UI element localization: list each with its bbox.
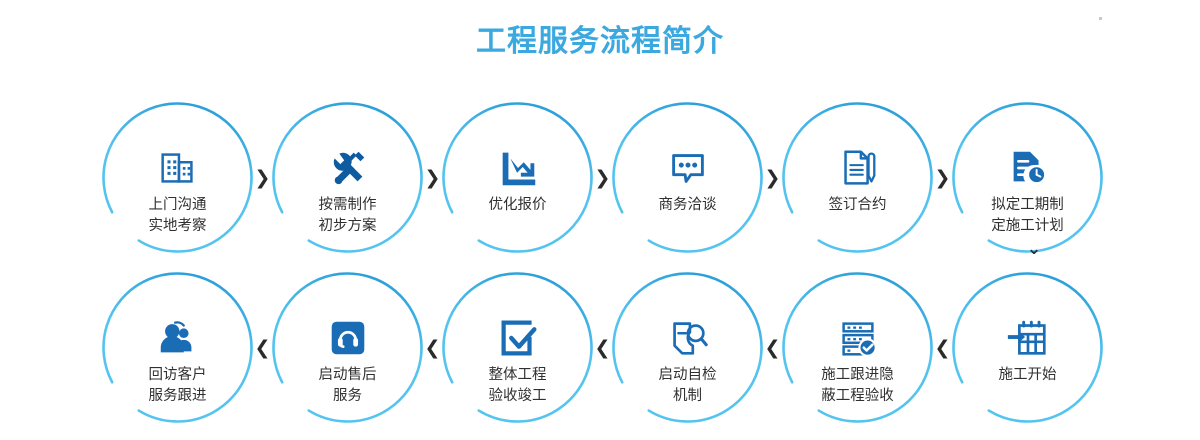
flow-step-label-line1: 拟定工期制 [991,197,1064,213]
flow-step-7[interactable]: 施工开始 [950,270,1105,425]
flow-step-content: 启动售后服务 [283,297,413,397]
flow-step-label-line2: 实地考察 [149,216,207,237]
connector-chevron-left-icon: ❮ [765,270,780,425]
document-pen-icon [835,145,881,191]
flow-step-label-line2: 蔽工程验收 [821,386,894,407]
flow-step-content: 优化报价 [453,127,583,227]
users-group-icon [155,315,201,361]
calendar-arrow-icon [1005,315,1051,361]
chevron-down-icon: ⌄ [1027,240,1041,259]
flow-step-label: 启动售后服务 [319,365,377,407]
flow-step-label: 拟定工期制定施工计划 [991,195,1064,237]
document-clock-icon [1005,145,1051,191]
flow-step-label: 上门沟通实地考察 [149,195,207,237]
flow-step-label-line2: 服务跟进 [149,386,207,407]
connector-chevron-left-icon: ❮ [595,270,610,425]
chevron-right-icon: ❯ [595,169,611,188]
flow-step-label-line1: 施工跟进隐 [821,367,894,383]
flow-step-content: 拟定工期制定施工计划 [963,127,1093,227]
flow-row-2: 回访客户服务跟进❮启动售后服务❮整体工程验收竣工❮启动自检机制❮施工跟进隐蔽工程… [0,262,1200,432]
flow-step-label-line1: 启动自检 [659,367,717,383]
flow-step-label-line2: 定施工计划 [991,216,1064,237]
flow-step-content: 回访客户服务跟进 [113,297,243,397]
connector-chevron-right-icon: ❯ [425,100,440,255]
flow-step-content: 签订合约 [793,127,923,227]
flow-step-11[interactable]: 启动售后服务 [270,270,425,425]
flow-step-label: 施工开始 [999,365,1057,386]
flow-step-2[interactable]: 按需制作初步方案 [270,100,425,255]
flow-row-1: 上门沟通实地考察❯按需制作初步方案❯优化报价❯商务洽谈❯签订合约❯拟定工期制定施… [0,92,1200,262]
flow-step-label-line1: 启动售后 [319,367,377,383]
connector-chevron-right-icon: ❯ [935,100,950,255]
headset-icon [325,315,371,361]
flow-step-label: 优化报价 [489,195,547,216]
speech-bubble-icon [665,145,711,191]
flow-step-12[interactable]: 回访客户服务跟进 [100,270,255,425]
flow-step-label-line1: 回访客户 [149,367,207,383]
flow-step-label-line1: 整体工程 [489,367,547,383]
chevron-left-icon: ❮ [935,339,951,358]
server-check-icon [835,315,881,361]
flow-step-8[interactable]: 施工跟进隐蔽工程验收 [780,270,935,425]
document-search-icon [665,315,711,361]
chevron-left-icon: ❮ [255,339,271,358]
chart-down-arrow-icon [495,145,541,191]
chevron-right-icon: ❯ [255,169,271,188]
flow-step-content: 施工跟进隐蔽工程验收 [793,297,923,397]
connector-chevron-right-icon: ❯ [255,100,270,255]
connector-chevron-right-icon: ❯ [765,100,780,255]
flow-step-1[interactable]: 上门沟通实地考察 [100,100,255,255]
page-title: 工程服务流程简介 [0,22,1200,62]
flow-step-label: 签订合约 [829,195,887,216]
flow-step-9[interactable]: 启动自检机制 [610,270,765,425]
flow-step-label: 按需制作初步方案 [319,195,377,237]
building-icon [155,145,201,191]
connector-chevron-left-icon: ❮ [425,270,440,425]
flow-step-label: 整体工程验收竣工 [489,365,547,407]
flow-step-6[interactable]: 拟定工期制定施工计划 [950,100,1105,255]
connector-chevron-down-icon: ⌄ [1022,238,1046,260]
chevron-right-icon: ❯ [425,169,441,188]
flow-step-content: 整体工程验收竣工 [453,297,583,397]
flow-step-4[interactable]: 商务洽谈 [610,100,765,255]
flow-step-label: 施工跟进隐蔽工程验收 [821,365,894,407]
flow-step-label-line2: 机制 [659,386,717,407]
flow-step-label-line1: 上门沟通 [149,197,207,213]
flow-step-label: 商务洽谈 [659,195,717,216]
flow-step-content: 商务洽谈 [623,127,753,227]
flow-step-content: 按需制作初步方案 [283,127,413,227]
tools-wrench-icon [325,145,371,191]
connector-chevron-left-icon: ❮ [255,270,270,425]
chevron-left-icon: ❮ [425,339,441,358]
flow-step-label-line2: 验收竣工 [489,386,547,407]
checkbox-check-icon [495,315,541,361]
flow-step-5[interactable]: 签订合约 [780,100,935,255]
flow-step-content: 启动自检机制 [623,297,753,397]
flow-step-10[interactable]: 整体工程验收竣工 [440,270,595,425]
chevron-left-icon: ❮ [765,339,781,358]
connector-chevron-right-icon: ❯ [595,100,610,255]
flow-step-label-line1: 商务洽谈 [659,197,717,213]
decorative-speck [1099,17,1102,20]
flow-step-content: 施工开始 [963,297,1093,397]
chevron-right-icon: ❯ [935,169,951,188]
process-flow-infographic: 工程服务流程简介 上门沟通实地考察❯按需制作初步方案❯优化报价❯商务洽谈❯签订合… [0,0,1200,440]
flow-step-label-line2: 服务 [319,386,377,407]
flow-step-label-line1: 优化报价 [489,197,547,213]
chevron-right-icon: ❯ [765,169,781,188]
chevron-left-icon: ❮ [595,339,611,358]
flow-step-label-line1: 施工开始 [999,367,1057,383]
flow-step-label: 启动自检机制 [659,365,717,407]
flow-step-label: 回访客户服务跟进 [149,365,207,407]
flow-step-label-line1: 签订合约 [829,197,887,213]
connector-chevron-left-icon: ❮ [935,270,950,425]
flow-step-label-line2: 初步方案 [319,216,377,237]
flow-step-3[interactable]: 优化报价 [440,100,595,255]
flow-step-content: 上门沟通实地考察 [113,127,243,227]
flow-step-label-line1: 按需制作 [319,197,377,213]
